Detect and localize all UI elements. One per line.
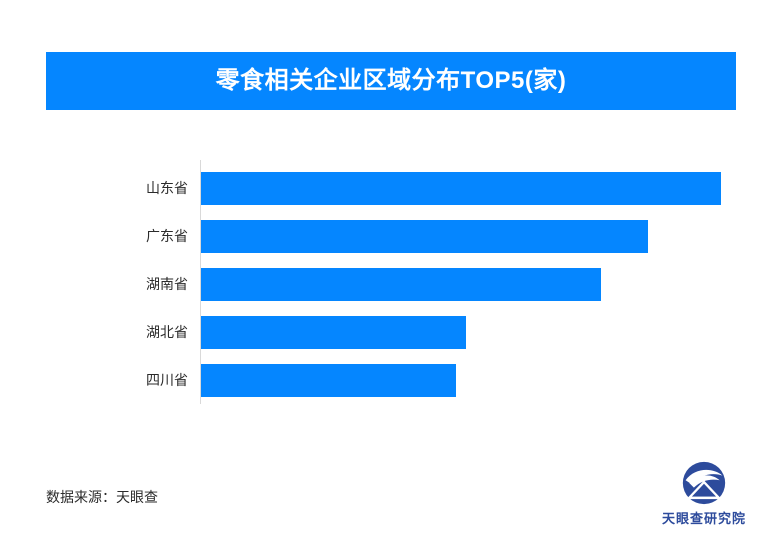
- bar-value: [201, 268, 601, 301]
- bar-row: 湖北省: [0, 308, 783, 356]
- brand-logo: 天眼查研究院: [654, 460, 754, 528]
- bar-track: [201, 316, 721, 349]
- brand-logo-text: 天眼查研究院: [662, 508, 746, 527]
- bar-value: [201, 364, 456, 397]
- bar-track: [201, 364, 721, 397]
- bar-value: [201, 316, 466, 349]
- plot-area: 山东省 广东省 湖南省 湖北省: [0, 150, 783, 410]
- page-title: 零食相关企业区域分布TOP5(家): [216, 69, 567, 93]
- tianyancha-eye-mountain-icon: [681, 460, 727, 506]
- category-label: 四川省: [60, 356, 188, 404]
- bar-row: 湖南省: [0, 260, 783, 308]
- category-label: 湖南省: [60, 260, 188, 308]
- chart-title-band: 零食相关企业区域分布TOP5(家): [46, 52, 736, 110]
- category-label: 湖北省: [60, 308, 188, 356]
- bar-row: 广东省: [0, 212, 783, 260]
- data-source-label: 数据来源：天眼查: [46, 487, 158, 507]
- category-label: 广东省: [60, 212, 188, 260]
- bar-track: [201, 220, 721, 253]
- bar-row: 山东省: [0, 164, 783, 212]
- bar-row: 四川省: [0, 356, 783, 404]
- bar-rows: 山东省 广东省 湖南省 湖北省: [0, 160, 783, 404]
- chart-canvas: 零食相关企业区域分布TOP5(家) 山东省 广东省 湖南省: [0, 0, 783, 544]
- bar-value: [201, 172, 721, 205]
- bar-value: [201, 220, 648, 253]
- category-label: 山东省: [60, 164, 188, 212]
- bar-track: [201, 268, 721, 301]
- bar-track: [201, 172, 721, 205]
